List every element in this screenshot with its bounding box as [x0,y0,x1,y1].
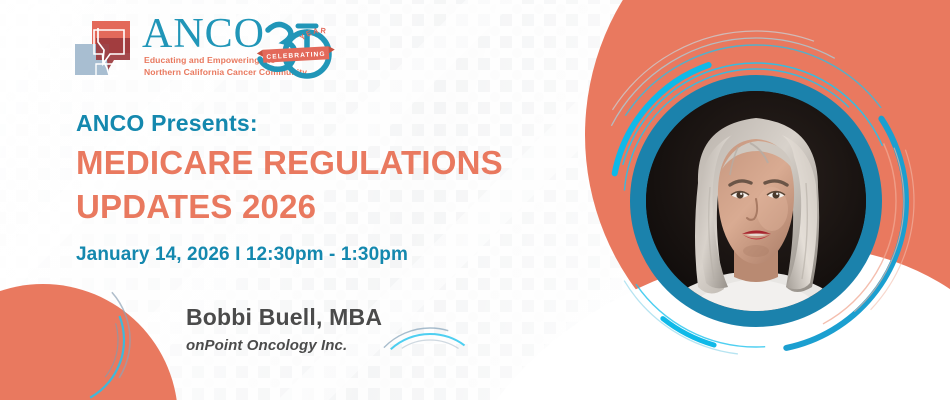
event-title-line1: MEDICARE REGULATIONS [76,141,503,185]
anco-wordmark: ANCO [142,13,265,55]
anniversary-35-years-badge: YEARS CELEBRATING [254,14,339,90]
anco-logo[interactable]: ANCO Educating and Empowering the Northe… [74,16,334,88]
webinar-promo-banner: ANCO Educating and Empowering the Northe… [0,0,950,400]
event-datetime: January 14, 2026 I 12:30pm - 1:30pm [76,244,408,266]
presents-label: ANCO Presents: [76,110,258,137]
event-title-line2: UPDATES 2026 [76,185,503,229]
arc-cluster-bottom-left [0,268,130,400]
speaker-name: Bobbi Buell, MBA [186,304,382,331]
event-title: MEDICARE REGULATIONS UPDATES 2026 [76,141,503,229]
speaker-organization: onPoint Oncology Inc. [186,337,347,354]
anco-speech-bubble-california-icon [74,20,142,82]
portrait-photo [646,91,866,311]
arc-cluster-bottom-center [366,328,494,400]
portrait-illustration [646,91,866,311]
speaker-portrait [630,75,882,327]
